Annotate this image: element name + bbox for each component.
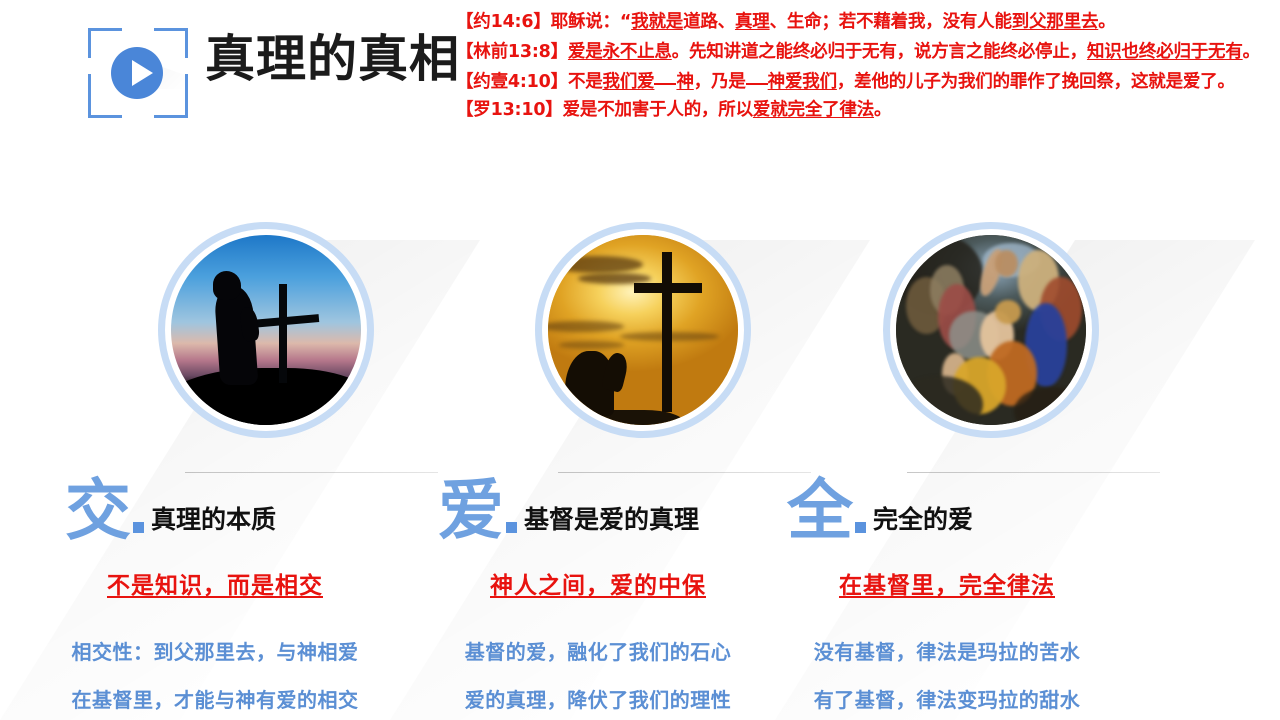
blue-line-1b: 在基督里，才能与神有爱的相交	[5, 676, 425, 720]
scripture-block: 【约14:6】耶稣说：“我就是道路、真理、生命；若不藉着我，没有人能到父那里去。…	[456, 8, 1276, 126]
baroque-painting-image	[896, 235, 1086, 425]
big-char-1: 交	[65, 480, 131, 542]
header: 真理的真相 【约14:6】耶稣说：“我就是道路、真理、生命；若不藉着我，没有人能…	[0, 0, 1280, 200]
red-emphasis-1: 不是知识，而是相交	[5, 566, 425, 600]
blue-body-3: 没有基督，律法是玛拉的苦水 有了基督，律法变玛拉的甜水	[737, 628, 1157, 720]
subheading-3: 完全的爱	[873, 505, 973, 542]
circle-image-3	[896, 235, 1086, 425]
golden-sunset-cross-image	[548, 235, 738, 425]
blue-line-3b: 有了基督，律法变玛拉的甜水	[737, 676, 1157, 720]
big-char-3: 全	[787, 480, 853, 542]
page-title: 真理的真相	[205, 34, 460, 84]
praying-silhouette-image	[171, 235, 361, 425]
big-char-2: 爱	[438, 480, 504, 542]
blue-body-1: 相交性：到父那里去，与神相爱 在基督里，才能与神有爱的相交	[5, 628, 425, 720]
heading-row-2: 爱 基督是爱的真理	[438, 480, 699, 542]
scripture-line-4: 【罗13:10】爱是不加害于人的，所以爱就完全了律法。	[456, 96, 1276, 124]
subheading-2: 基督是爱的真理	[524, 505, 699, 542]
square-dot-icon-2	[506, 522, 517, 533]
columns-region: 交 真理的本质 不是知识，而是相交 相交性：到父那里去，与神相爱 在基督里，才能…	[0, 200, 1280, 720]
circle-frame-1	[158, 222, 374, 438]
divider-1	[185, 472, 438, 473]
scripture-line-1: 【约14:6】耶稣说：“我就是道路、真理、生命；若不藉着我，没有人能到父那里去。	[456, 8, 1276, 36]
circle-image-2	[548, 235, 738, 425]
circle-frame-3	[883, 222, 1099, 438]
circle-image-1	[171, 235, 361, 425]
heading-row-3: 全 完全的爱	[787, 480, 973, 542]
subheading-1: 真理的本质	[151, 505, 276, 542]
blue-line-3a: 没有基督，律法是玛拉的苦水	[737, 628, 1157, 676]
divider-3	[907, 472, 1160, 473]
scripture-line-3: 【约壹4:10】不是我们爱神，乃是神爱我们，差他的儿子为我们的罪作了挽回祭，这就…	[456, 68, 1276, 96]
play-triangle-icon	[132, 60, 153, 86]
red-emphasis-3: 在基督里，完全律法	[737, 566, 1157, 600]
square-dot-icon-3	[855, 522, 866, 533]
circle-frame-2	[535, 222, 751, 438]
column-3: 全 完全的爱 在基督里，完全律法 没有基督，律法是玛拉的苦水 有了基督，律法变玛…	[835, 200, 1255, 720]
heading-row-1: 交 真理的本质	[65, 480, 276, 542]
logo-play-button[interactable]	[88, 28, 188, 118]
scripture-line-2: 【林前13:8】爱是永不止息。先知讲道之能终必归于无有，说方言之能终必停止，知识…	[456, 38, 1276, 66]
slide-canvas: 真理的真相 【约14:6】耶稣说：“我就是道路、真理、生命；若不藉着我，没有人能…	[0, 0, 1280, 720]
blue-line-1a: 相交性：到父那里去，与神相爱	[5, 628, 425, 676]
square-dot-icon-1	[133, 522, 144, 533]
divider-2	[558, 472, 811, 473]
